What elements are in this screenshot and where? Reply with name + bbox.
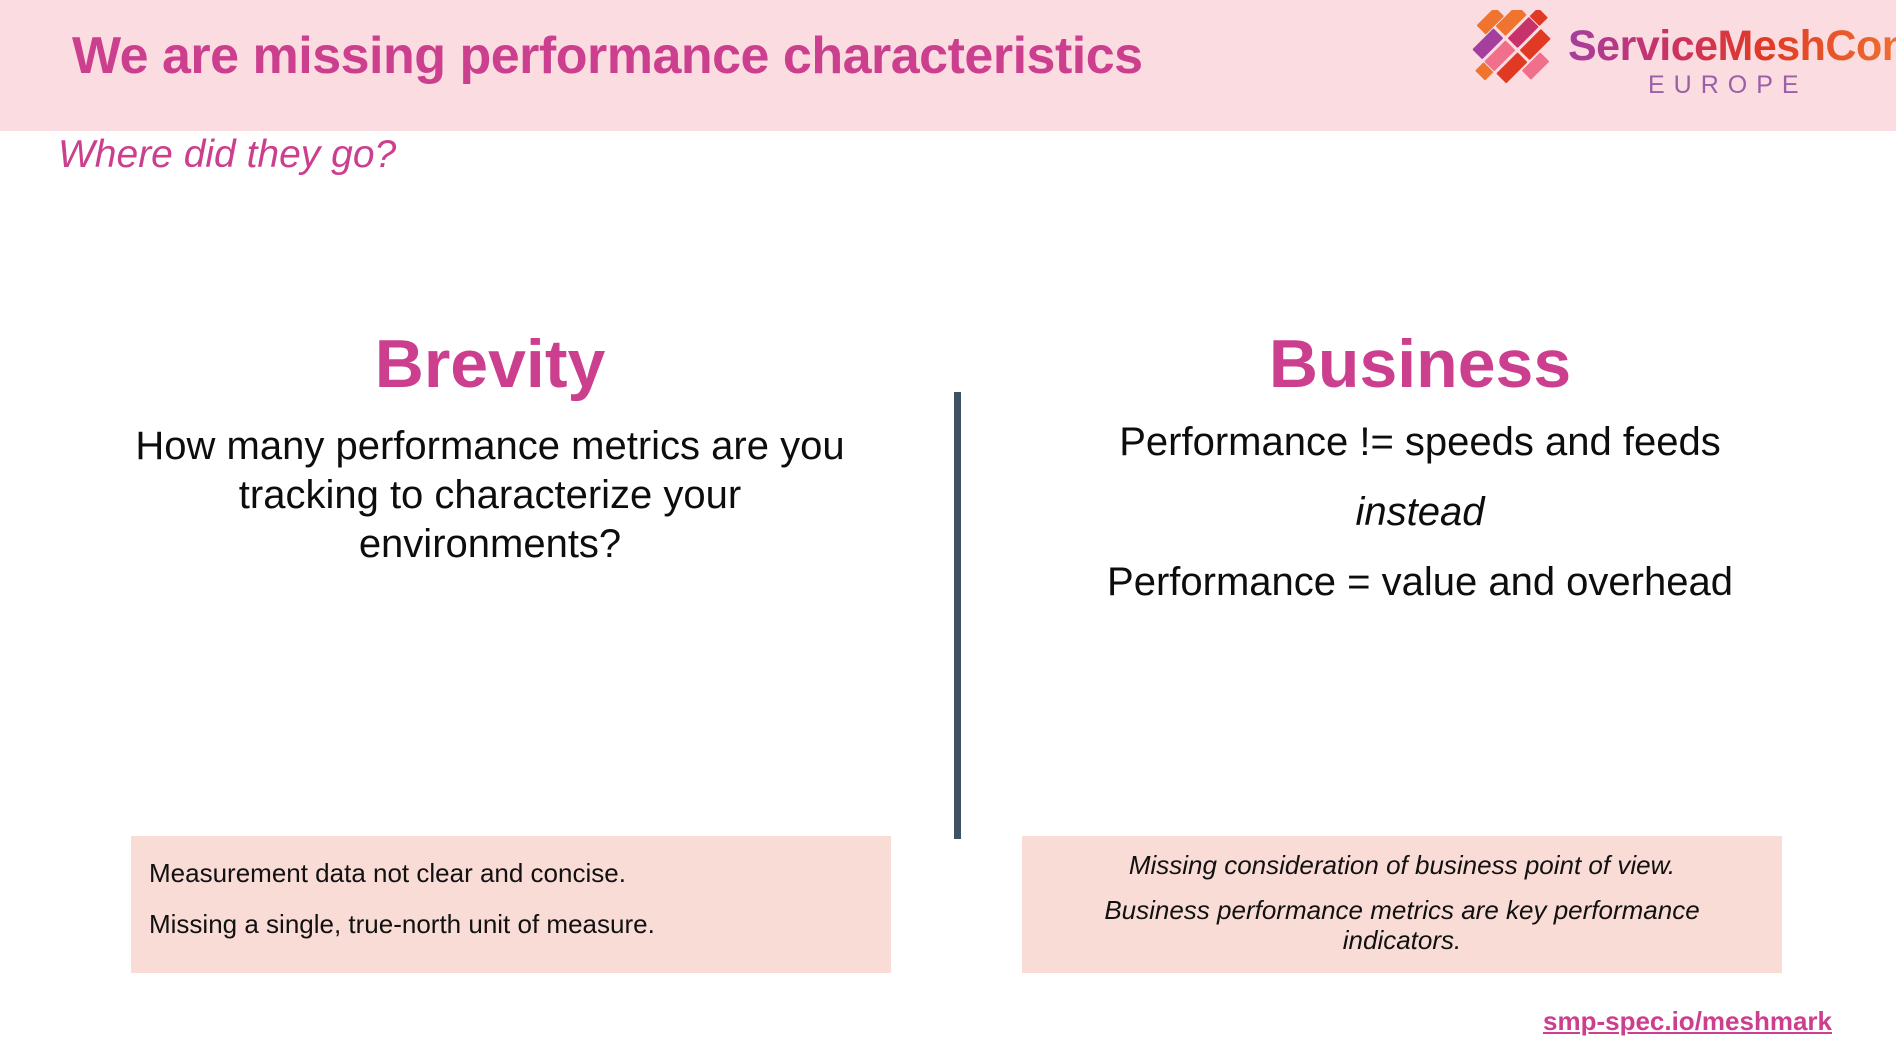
column-body-business: Performance != speeds and feeds instead … (990, 422, 1850, 602)
footer-spec-link[interactable]: smp-spec.io/meshmark (1543, 1006, 1832, 1037)
callout-line: Missing a single, true-north unit of mea… (149, 909, 873, 940)
column-heading-brevity: Brevity (60, 330, 920, 398)
column-brevity: Brevity How many performance metrics are… (60, 330, 920, 568)
column-heading-business: Business (990, 330, 1850, 398)
column-business: Business Performance != speeds and feeds… (990, 330, 1850, 602)
callout-line: Measurement data not clear and concise. (149, 858, 873, 889)
body-line-instead: instead (990, 492, 1850, 532)
body-line-performance-not-equal: Performance != speeds and feeds (990, 422, 1850, 462)
logo-region-label: EUROPE (1648, 71, 1808, 100)
diamond-mesh-icon (1466, 10, 1562, 96)
servicemeshcon-logo: ServiceMeshCon EUROPE (1466, 8, 1886, 123)
callout-business: Missing consideration of business point … (1022, 836, 1782, 973)
slide-subtitle: Where did they go? (58, 133, 396, 177)
callout-line: Business performance metrics are key per… (1042, 895, 1762, 956)
callout-brevity: Measurement data not clear and concise. … (131, 836, 891, 973)
callout-line: Missing consideration of business point … (1042, 850, 1762, 881)
body-line-performance-equals: Performance = value and overhead (990, 562, 1850, 602)
body-paragraph: How many performance metrics are you tra… (128, 422, 852, 568)
page-title: We are missing performance characteristi… (72, 26, 1143, 86)
column-body-brevity: How many performance metrics are you tra… (60, 422, 920, 568)
column-divider (954, 392, 961, 839)
logo-wordmark: ServiceMeshCon (1568, 22, 1896, 71)
